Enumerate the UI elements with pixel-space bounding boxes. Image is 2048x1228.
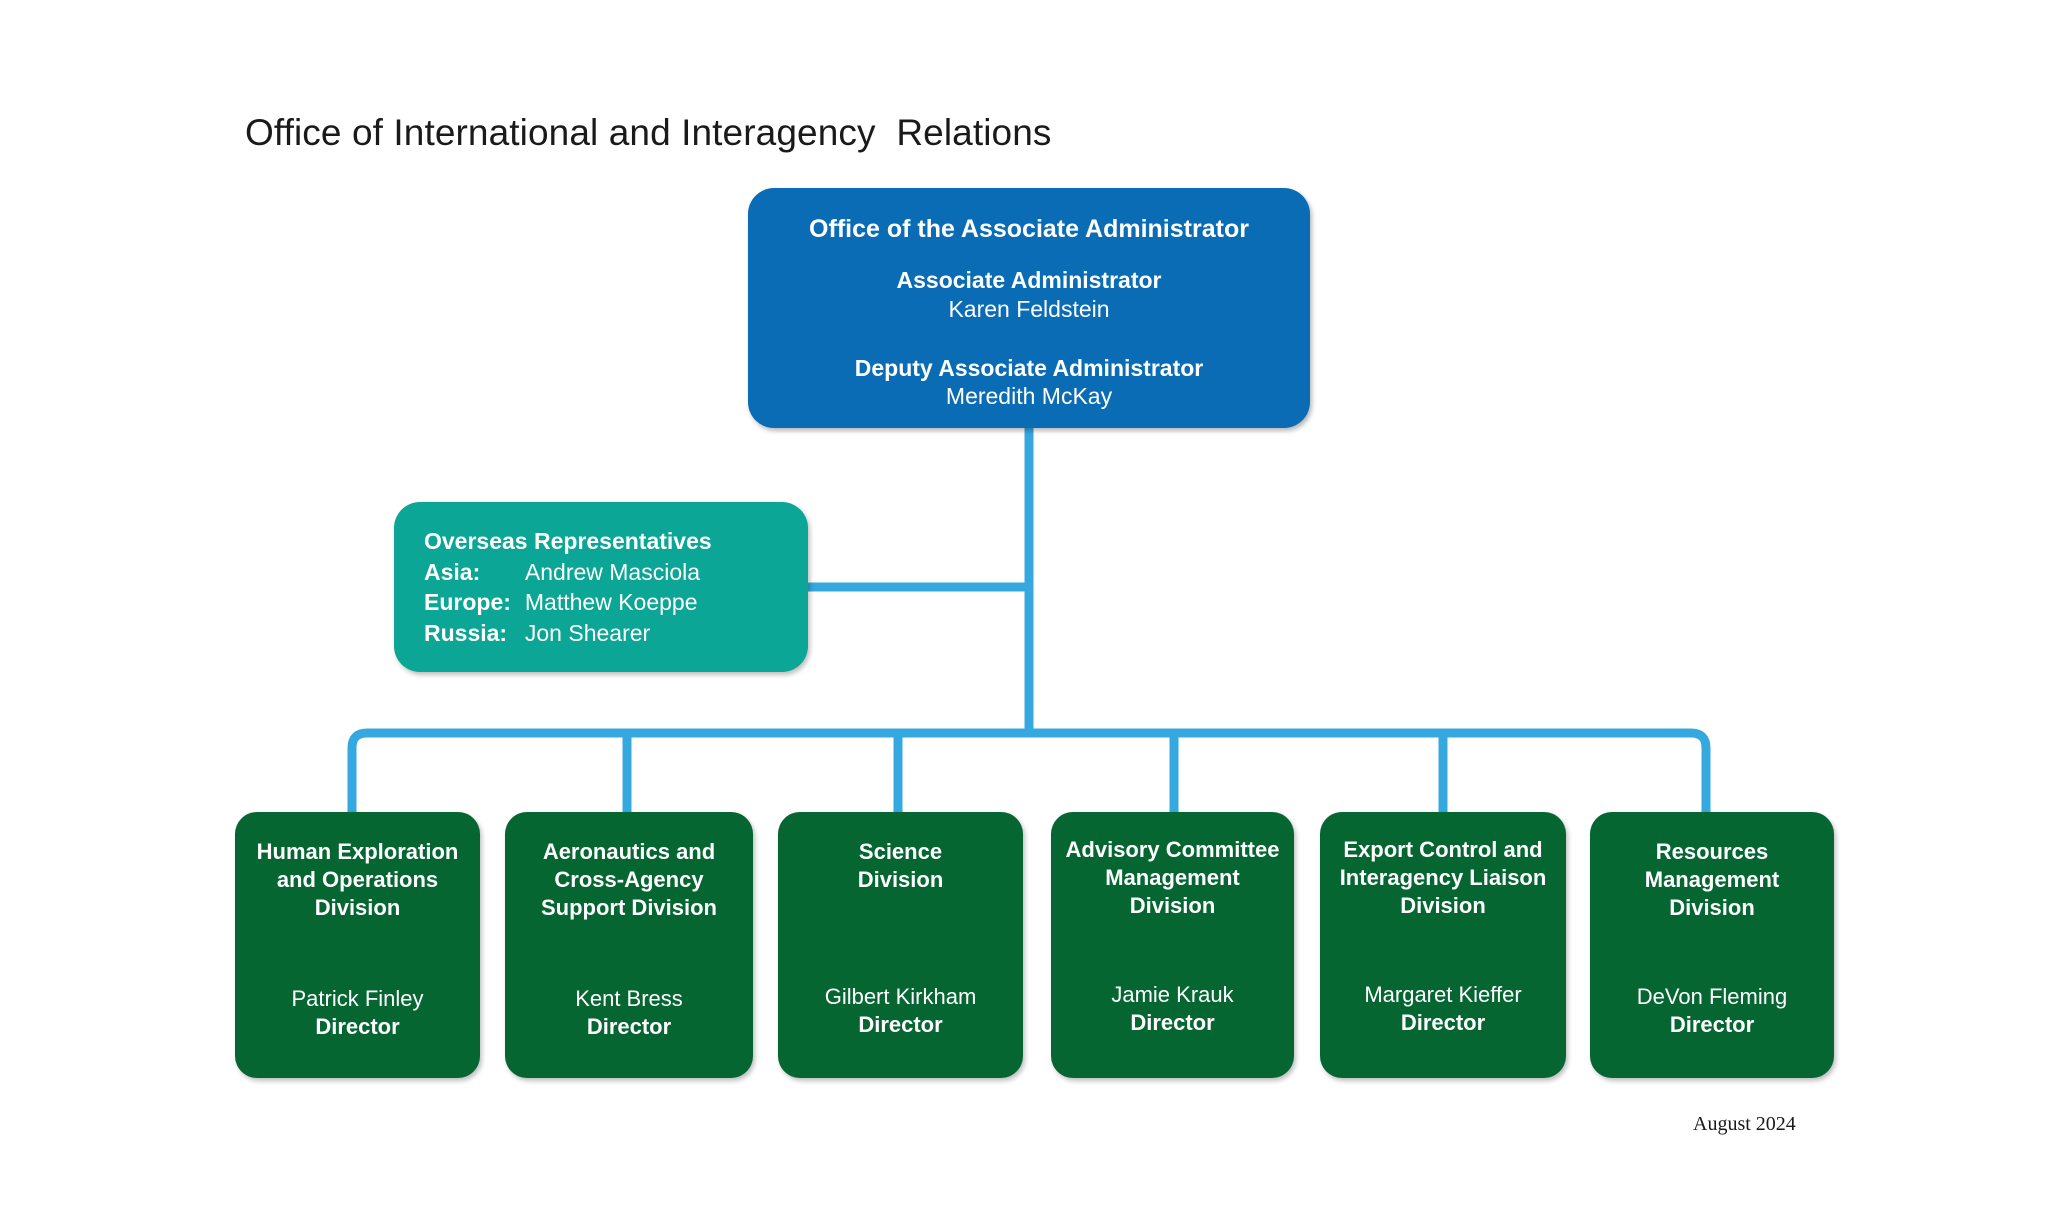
overseas-region-europe: Europe: bbox=[424, 587, 511, 617]
division-spacer bbox=[235, 922, 480, 984]
division-name: Resources Management Division bbox=[1590, 838, 1834, 922]
division-director-title: Director bbox=[1051, 1009, 1294, 1038]
division-name: Science Division bbox=[778, 838, 1023, 894]
division-director-title: Director bbox=[1590, 1011, 1834, 1040]
overseas-region-asia: Asia: bbox=[424, 557, 511, 587]
division-spacer bbox=[778, 894, 1023, 983]
division-name: Aeronautics and Cross-Agency Support Div… bbox=[505, 838, 753, 922]
division-director-name: Kent Bress bbox=[505, 985, 753, 1014]
overseas-representatives-table: Asia: Andrew Masciola Europe: Matthew Ko… bbox=[424, 557, 700, 648]
division-director-name: Jamie Krauk bbox=[1051, 981, 1294, 1010]
overseas-name-russia: Jon Shearer bbox=[511, 618, 700, 648]
footer-date: August 2024 bbox=[1693, 1113, 1796, 1136]
associate-administrator-role: Associate Administrator bbox=[748, 266, 1310, 295]
division-director-name: Margaret Kieffer bbox=[1320, 981, 1566, 1010]
org-chart: Office of International and Interagency … bbox=[0, 0, 2048, 1228]
node-division-science[interactable]: Science Division Gilbert Kirkham Directo… bbox=[778, 812, 1023, 1078]
division-director-title: Director bbox=[235, 1013, 480, 1042]
node-office-associate-administrator[interactable]: Office of the Associate Administrator As… bbox=[748, 188, 1310, 428]
overseas-heading: Overseas Representatives bbox=[424, 527, 808, 557]
node-division-aeronautics-and-cross-agency-support[interactable]: Aeronautics and Cross-Agency Support Div… bbox=[505, 812, 753, 1078]
division-spacer bbox=[1590, 922, 1834, 982]
overseas-name-europe: Matthew Koeppe bbox=[511, 587, 700, 617]
overseas-row-russia: Russia: Jon Shearer bbox=[424, 618, 700, 648]
overseas-row-asia: Asia: Andrew Masciola bbox=[424, 557, 700, 587]
node-overseas-representatives[interactable]: Overseas Representatives Asia: Andrew Ma… bbox=[394, 502, 808, 672]
overseas-name-asia: Andrew Masciola bbox=[511, 557, 700, 587]
division-director-name: Patrick Finley bbox=[235, 985, 480, 1014]
division-name: Advisory Committee Management Division bbox=[1051, 836, 1294, 920]
top-node-heading: Office of the Associate Administrator bbox=[748, 214, 1310, 244]
division-spacer bbox=[1051, 920, 1294, 980]
division-name: Human Exploration and Operations Divisio… bbox=[235, 838, 480, 922]
overseas-row-europe: Europe: Matthew Koeppe bbox=[424, 587, 700, 617]
division-director-title: Director bbox=[1320, 1009, 1566, 1038]
division-name: Export Control and Interagency Liaison D… bbox=[1320, 836, 1566, 920]
associate-administrator-name: Karen Feldstein bbox=[748, 295, 1310, 324]
node-division-resources-management[interactable]: Resources Management Division DeVon Flem… bbox=[1590, 812, 1834, 1078]
deputy-associate-administrator-role: Deputy Associate Administrator bbox=[748, 354, 1310, 383]
page-title: Office of International and Interagency … bbox=[245, 112, 1051, 154]
node-division-human-exploration-and-operations[interactable]: Human Exploration and Operations Divisio… bbox=[235, 812, 480, 1078]
division-director-name: Gilbert Kirkham bbox=[778, 983, 1023, 1012]
overseas-region-russia: Russia: bbox=[424, 618, 511, 648]
division-director-name: DeVon Fleming bbox=[1590, 983, 1834, 1012]
division-spacer bbox=[505, 922, 753, 984]
division-spacer bbox=[1320, 920, 1566, 980]
deputy-associate-administrator-name: Meredith McKay bbox=[748, 382, 1310, 411]
division-director-title: Director bbox=[505, 1013, 753, 1042]
node-division-advisory-committee-management[interactable]: Advisory Committee Management Division J… bbox=[1051, 812, 1294, 1078]
division-director-title: Director bbox=[778, 1011, 1023, 1040]
node-division-export-control-and-interagency-liaison[interactable]: Export Control and Interagency Liaison D… bbox=[1320, 812, 1566, 1078]
division-bus-line bbox=[352, 733, 1706, 812]
